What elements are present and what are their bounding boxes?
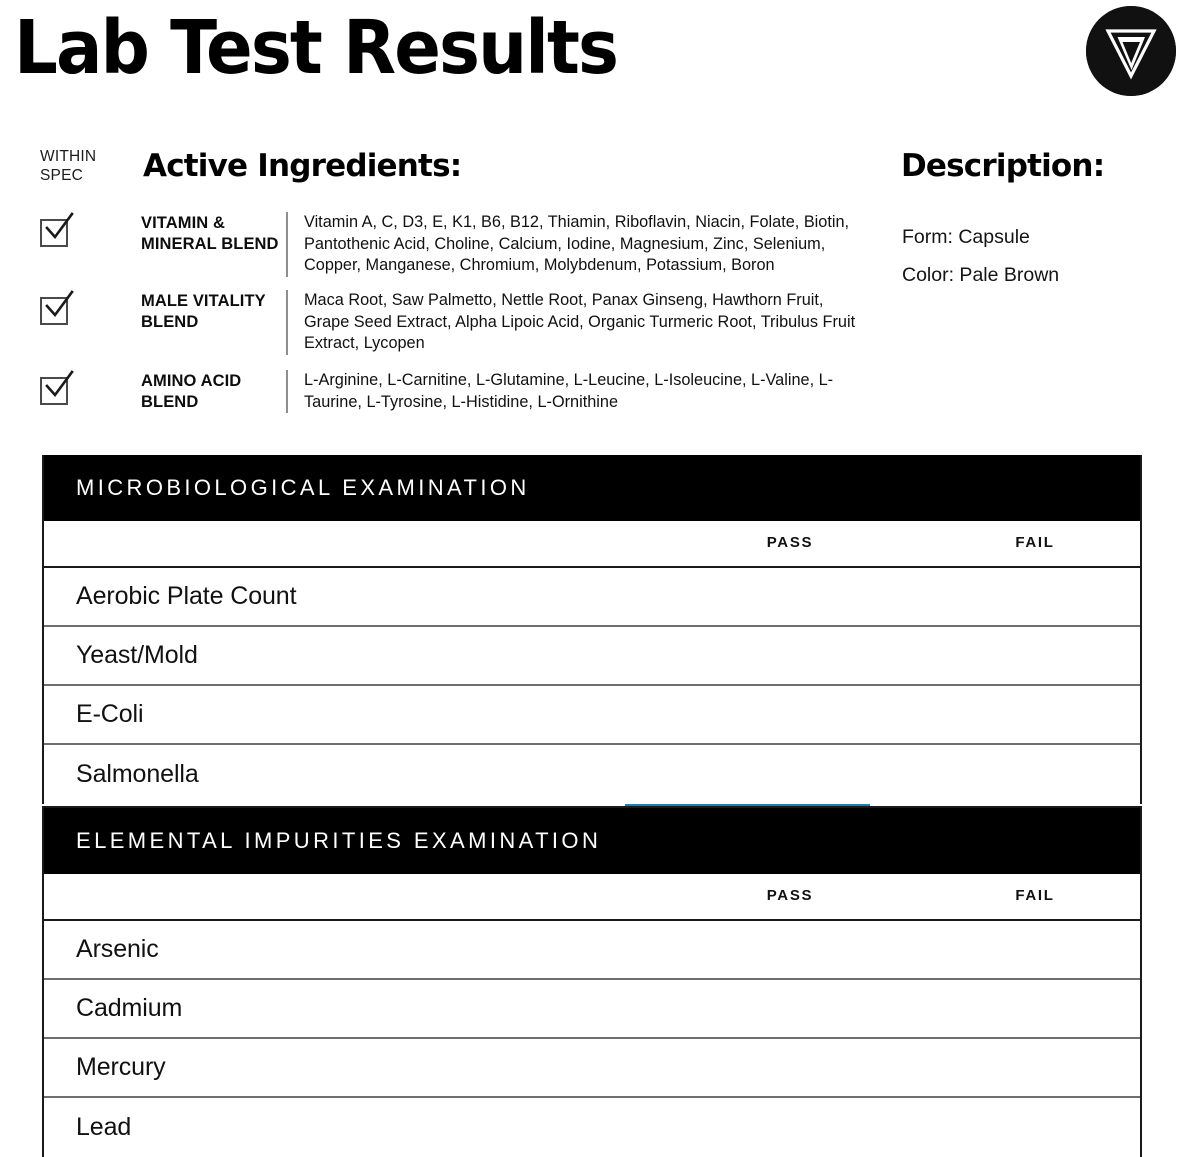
active-ingredients-heading: Active Ingredients: [143,148,461,184]
checkbox-checked-icon[interactable] [40,292,74,326]
ingredient-blend-name: MALE VITALITY BLEND [141,290,286,332]
ingredient-row: VITAMIN & MINERAL BLEND Vitamin A, C, D3… [40,212,870,278]
within-spec-check-cell [40,290,141,326]
ingredient-blend-name: AMINO ACID BLEND [141,370,286,412]
ingredient-blend-items: Maca Root, Saw Palmetto, Nettle Root, Pa… [286,290,870,355]
table-grid: PASS FAIL Aerobic Plate Count [44,521,1140,804]
table-row: E-Coli [44,686,1140,745]
table-row: Arsenic [44,921,1140,980]
within-spec-label: WITHIN SPEC [40,147,135,185]
test-name: Mercury [76,1052,166,1081]
column-header-fail: FAIL [870,534,1181,551]
checkbox-checked-icon[interactable] [40,372,74,406]
lab-test-results-page: Lab Test Results WITHIN SPEC Active Ingr… [0,0,1181,1157]
page-header: Lab Test Results [0,0,1181,112]
ingredient-blend-name: VITAMIN & MINERAL BLEND [141,212,286,254]
test-name: Yeast/Mold [76,640,198,669]
table-title: ELEMENTAL IMPURITIES EXAMINATION [44,808,1140,874]
test-name: Cadmium [76,993,182,1022]
table-row: Salmonella [44,745,1140,804]
test-name: Salmonella [76,759,199,788]
ingredient-row: MALE VITALITY BLEND Maca Root, Saw Palme… [40,290,870,356]
microbiological-examination-table: MICROBIOLOGICAL EXAMINATION PASS FAIL [42,455,1142,804]
column-header-fail: FAIL [870,887,1181,904]
table-row: Mercury [44,1039,1140,1098]
table-grid: PASS FAIL Arsenic [44,874,1140,1157]
description-color: Color: Pale Brown [902,256,1059,294]
checkbox-checked-icon[interactable] [40,214,74,248]
description-details: Form: Capsule Color: Pale Brown [902,218,1059,294]
test-name: E-Coli [76,699,143,728]
within-spec-check-cell [40,212,141,248]
test-name: Arsenic [76,934,159,963]
table-row: Aerobic Plate Count [44,568,1140,627]
within-spec-line-1: WITHIN [40,147,135,166]
table-title: MICROBIOLOGICAL EXAMINATION [44,455,1140,521]
within-spec-line-2: SPEC [40,166,135,185]
table-row: Lead [44,1098,1140,1157]
ingredient-blend-items: L-Arginine, L-Carnitine, L-Glutamine, L-… [286,370,870,413]
table-bottom-rule [42,806,1142,808]
ingredient-row: AMINO ACID BLEND L-Arginine, L-Carnitine… [40,370,870,414]
test-name: Aerobic Plate Count [76,581,296,610]
page-title: Lab Test Results [14,2,617,94]
table-column-header-row: PASS FAIL [44,874,1140,921]
table-row: Yeast/Mold [44,627,1140,686]
ingredient-rows: VITAMIN & MINERAL BLEND Vitamin A, C, D3… [40,212,870,426]
description-form: Form: Capsule [902,218,1059,256]
test-name: Lead [76,1112,131,1141]
table-column-header-row: PASS FAIL [44,521,1140,568]
table-row: Cadmium [44,980,1140,1039]
description-heading: Description: [901,148,1104,184]
within-spec-check-cell [40,370,141,406]
brand-triangle-logo-icon [1086,6,1176,96]
ingredient-blend-items: Vitamin A, C, D3, E, K1, B6, B12, Thiami… [286,212,870,277]
elemental-impurities-examination-table: ELEMENTAL IMPURITIES EXAMINATION PASS FA… [42,808,1142,1157]
